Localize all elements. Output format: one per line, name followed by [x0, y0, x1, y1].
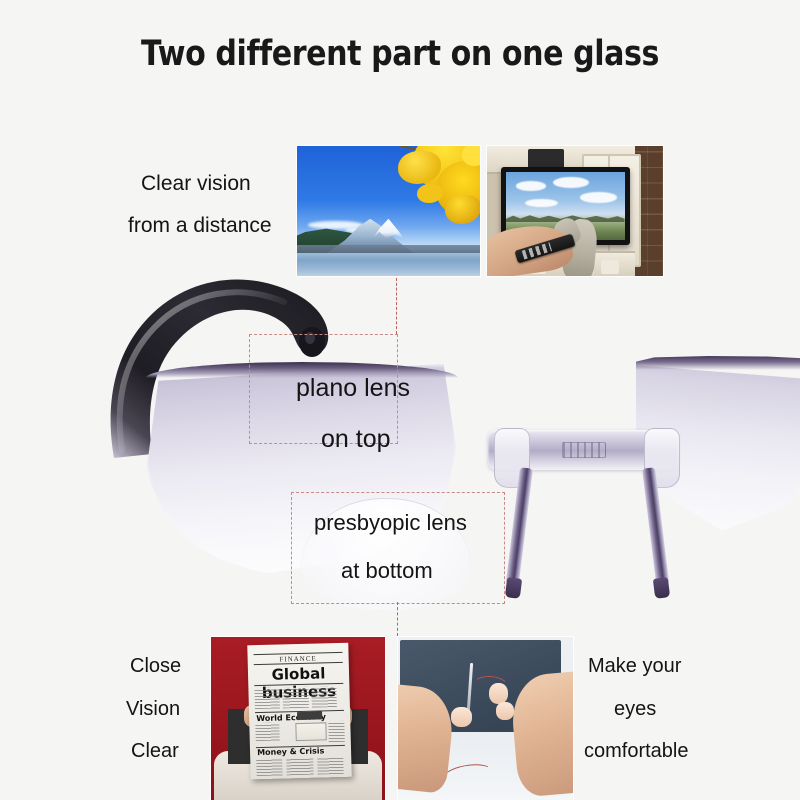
connector-top: [396, 278, 397, 334]
text-column: [287, 757, 314, 775]
text-column: [317, 756, 344, 774]
text-column: [255, 687, 281, 709]
text-column: [256, 722, 281, 741]
newspaper-subhead-2: Money & Crisis: [257, 746, 324, 757]
comfortable-label-line3: comfortable: [584, 740, 689, 763]
cloud: [516, 181, 547, 191]
text-column: [283, 686, 309, 708]
fingernail: [451, 707, 472, 727]
nose-leg-tip: [653, 577, 670, 599]
text-column: [257, 758, 284, 776]
nose-leg-tip: [505, 577, 522, 599]
plano-lens-label-line1: plano lens: [296, 374, 410, 403]
fingernail: [496, 702, 514, 720]
cloud: [525, 199, 558, 207]
plano-lens-label-line2: on top: [321, 425, 391, 454]
page-title: Two different part on one glass: [56, 34, 744, 74]
right-lens-top-edge: [636, 356, 800, 370]
bridge-engraving: [562, 442, 606, 458]
close-vision-label-line3: Clear: [131, 740, 179, 763]
comfortable-label-line1: Make your: [588, 655, 681, 678]
reading-newspaper-photo: FINANCE Global business World Economy Mo…: [211, 637, 385, 800]
product-infographic: Two different part on one glass: [0, 0, 800, 800]
presbyopic-lens-callout-box: [291, 492, 505, 604]
mountain-lake-autumn-photo: [297, 146, 480, 276]
cloud: [580, 192, 618, 203]
leaf-cluster: [445, 195, 480, 224]
comfortable-label-line2: eyes: [614, 698, 656, 721]
presbyopic-lens-label-line2: at bottom: [341, 558, 433, 584]
newspaper: FINANCE Global business World Economy Mo…: [248, 642, 352, 778]
close-vision-label-line2: Vision: [126, 698, 180, 721]
text-column: [311, 685, 337, 707]
fingernail: [489, 683, 508, 704]
cloud: [553, 177, 589, 188]
presbyopic-lens-label-line1: presbyopic lens: [314, 510, 467, 536]
connector-bottom: [397, 602, 398, 636]
threading-needle-photo: [398, 637, 573, 800]
ginkgo-tree: [381, 146, 480, 232]
text-column: [328, 720, 345, 742]
clear-vision-label-line2: from a distance: [128, 214, 272, 238]
watching-television-photo: [487, 146, 663, 276]
clear-vision-label-line1: Clear vision: [141, 172, 251, 196]
close-vision-label-line1: Close: [130, 655, 181, 678]
